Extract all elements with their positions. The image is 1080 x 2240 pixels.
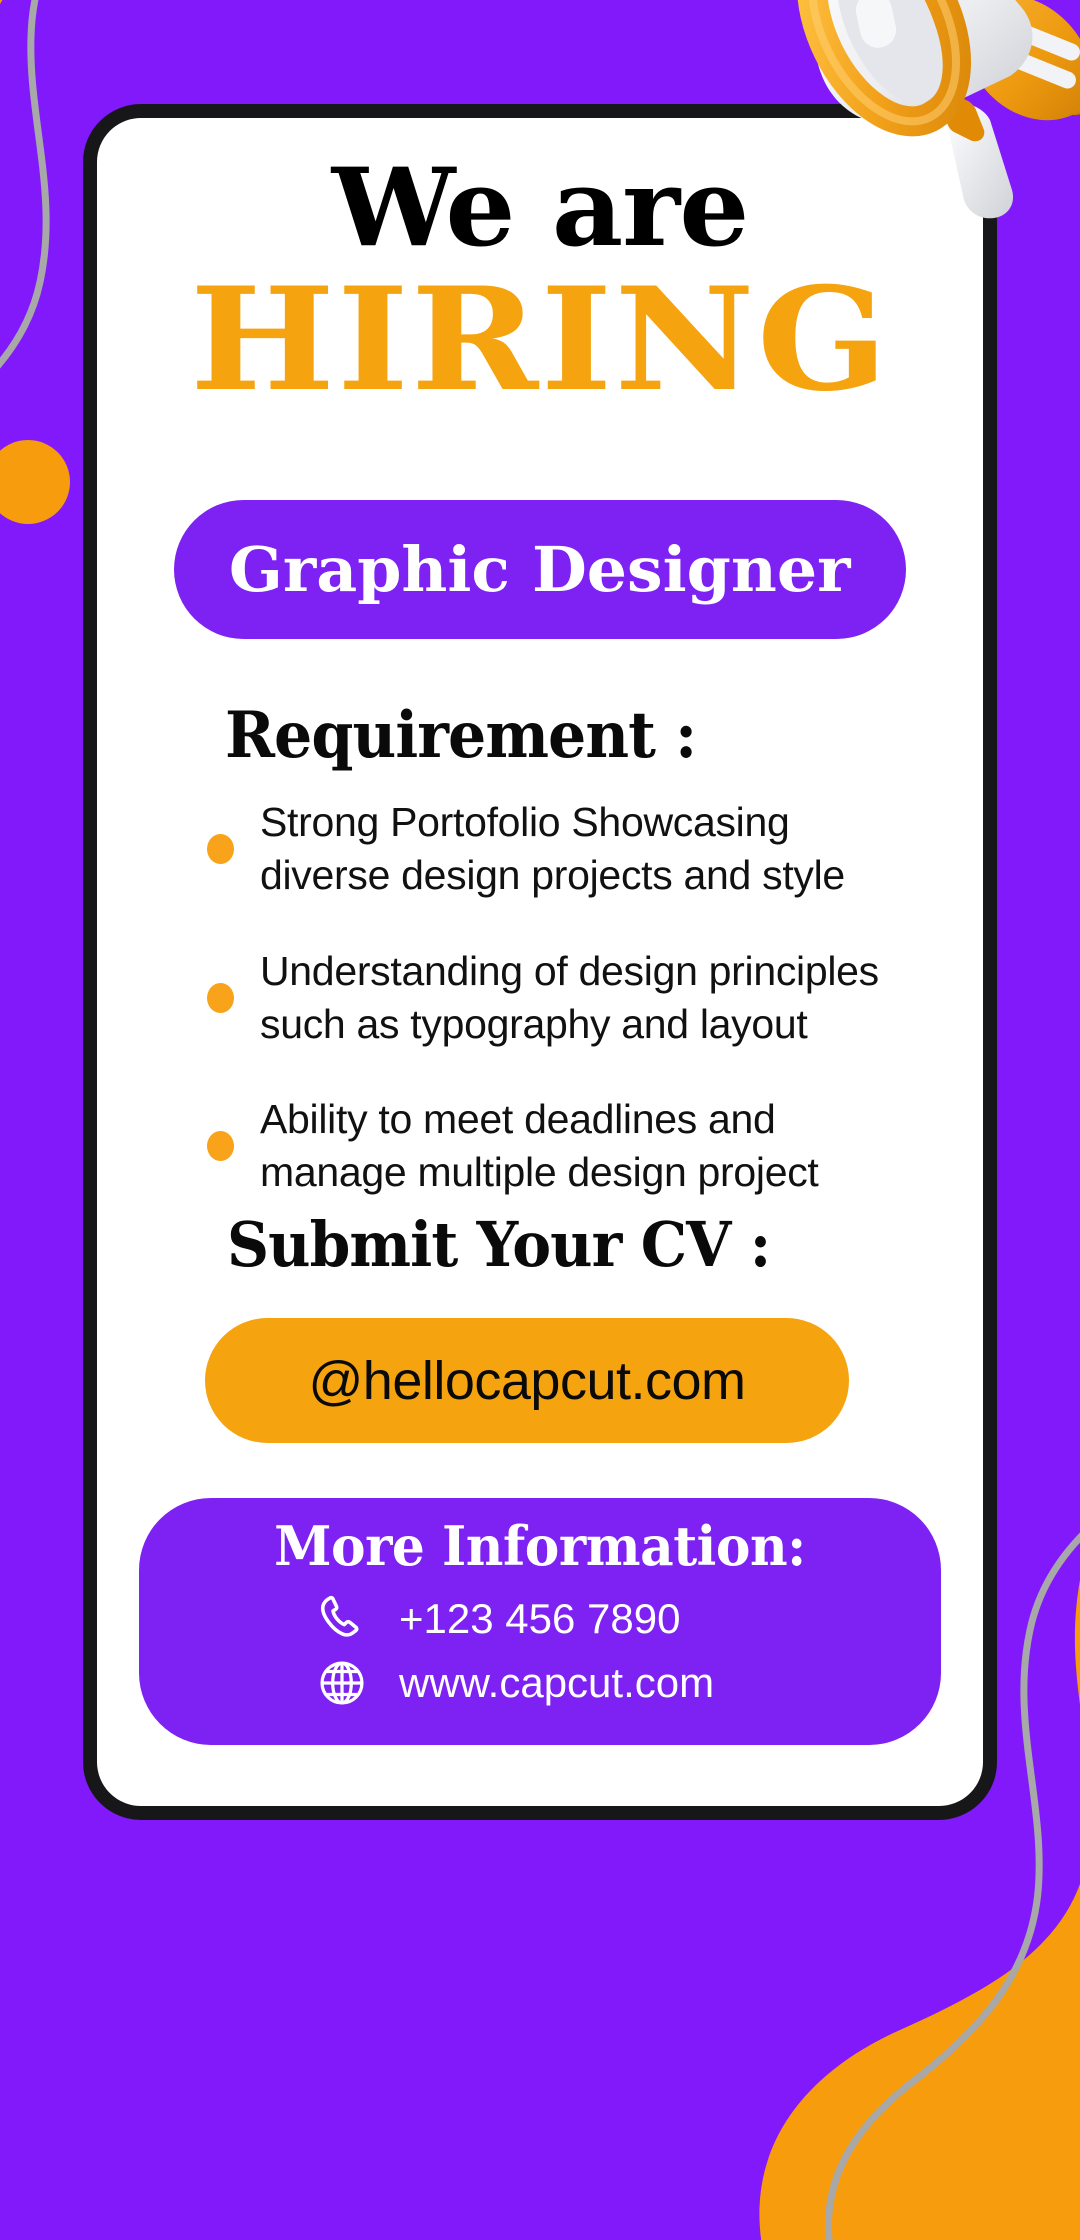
bullet-icon bbox=[207, 983, 234, 1013]
email-pill[interactable]: @hellocapcut.com bbox=[205, 1318, 849, 1443]
requirement-text: Ability to meet deadlines and manage mul… bbox=[260, 1093, 925, 1200]
bullet-icon bbox=[207, 834, 234, 864]
requirement-list: Strong Portofolio Showcasing diverse des… bbox=[207, 796, 925, 1200]
requirement-text: Understanding of design principles such … bbox=[260, 945, 925, 1052]
globe-icon bbox=[313, 1654, 371, 1712]
list-item: Strong Portofolio Showcasing diverse des… bbox=[207, 796, 925, 903]
poster-canvas: We are HIRING Graphic Designer Requireme… bbox=[0, 0, 1080, 1920]
requirement-heading: Requirement : bbox=[225, 698, 696, 773]
poster-card: We are HIRING Graphic Designer Requireme… bbox=[83, 104, 997, 1820]
role-pill: Graphic Designer bbox=[174, 500, 906, 639]
list-item: Ability to meet deadlines and manage mul… bbox=[207, 1093, 925, 1200]
phone-icon bbox=[313, 1590, 371, 1648]
contact-row-phone[interactable]: +123 456 7890 bbox=[313, 1590, 680, 1648]
phone-number: +123 456 7890 bbox=[399, 1595, 680, 1643]
email-address: @hellocapcut.com bbox=[308, 1350, 745, 1412]
submit-cv-heading: Submit Your CV : bbox=[227, 1208, 770, 1281]
requirement-text: Strong Portofolio Showcasing diverse des… bbox=[260, 796, 925, 903]
role-label: Graphic Designer bbox=[229, 533, 851, 606]
decorative-circle-left bbox=[0, 440, 70, 524]
footer-title: More Information: bbox=[274, 1514, 806, 1578]
website-url: www.capcut.com bbox=[399, 1659, 714, 1707]
more-information-panel: More Information: +123 456 7890 bbox=[139, 1498, 941, 1745]
bullet-icon bbox=[207, 1131, 234, 1161]
megaphone-3d-icon bbox=[772, 0, 1080, 234]
list-item: Understanding of design principles such … bbox=[207, 945, 925, 1052]
card-content-area: We are HIRING Graphic Designer Requireme… bbox=[97, 118, 983, 1806]
contact-row-website[interactable]: www.capcut.com bbox=[313, 1654, 714, 1712]
headline-hiring: HIRING bbox=[97, 268, 983, 413]
